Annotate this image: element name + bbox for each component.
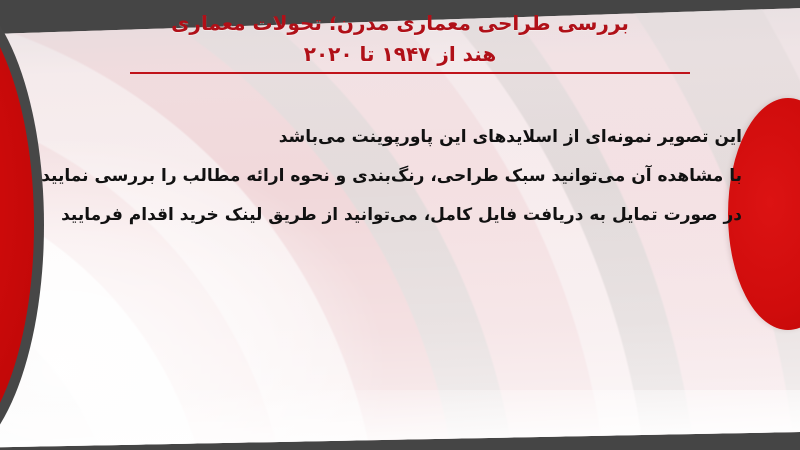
slide-title: بررسی طراحی معماری مدرن؛ تحولات معماری ه… — [0, 8, 800, 70]
slide-body-text: این تصویر نمونه‌ای از اسلایدهای این پاور… — [0, 118, 800, 235]
presentation-slide: بررسی طراحی معماری مدرن؛ تحولات معماری ه… — [0, 0, 800, 450]
body-line-2: با مشاهده آن می‌توانید سبک طراحی، رنگ‌بن… — [42, 157, 742, 196]
body-line-1: این تصویر نمونه‌ای از اسلایدهای این پاور… — [42, 118, 742, 157]
title-line-1: بررسی طراحی معماری مدرن؛ تحولات معماری — [0, 8, 800, 39]
body-line-3: در صورت تمایل به دریافت فایل کامل، می‌تو… — [42, 196, 742, 235]
title-divider-rule — [130, 72, 690, 74]
title-line-2: هند از ۱۹۴۷ تا ۲۰۲۰ — [0, 39, 800, 70]
